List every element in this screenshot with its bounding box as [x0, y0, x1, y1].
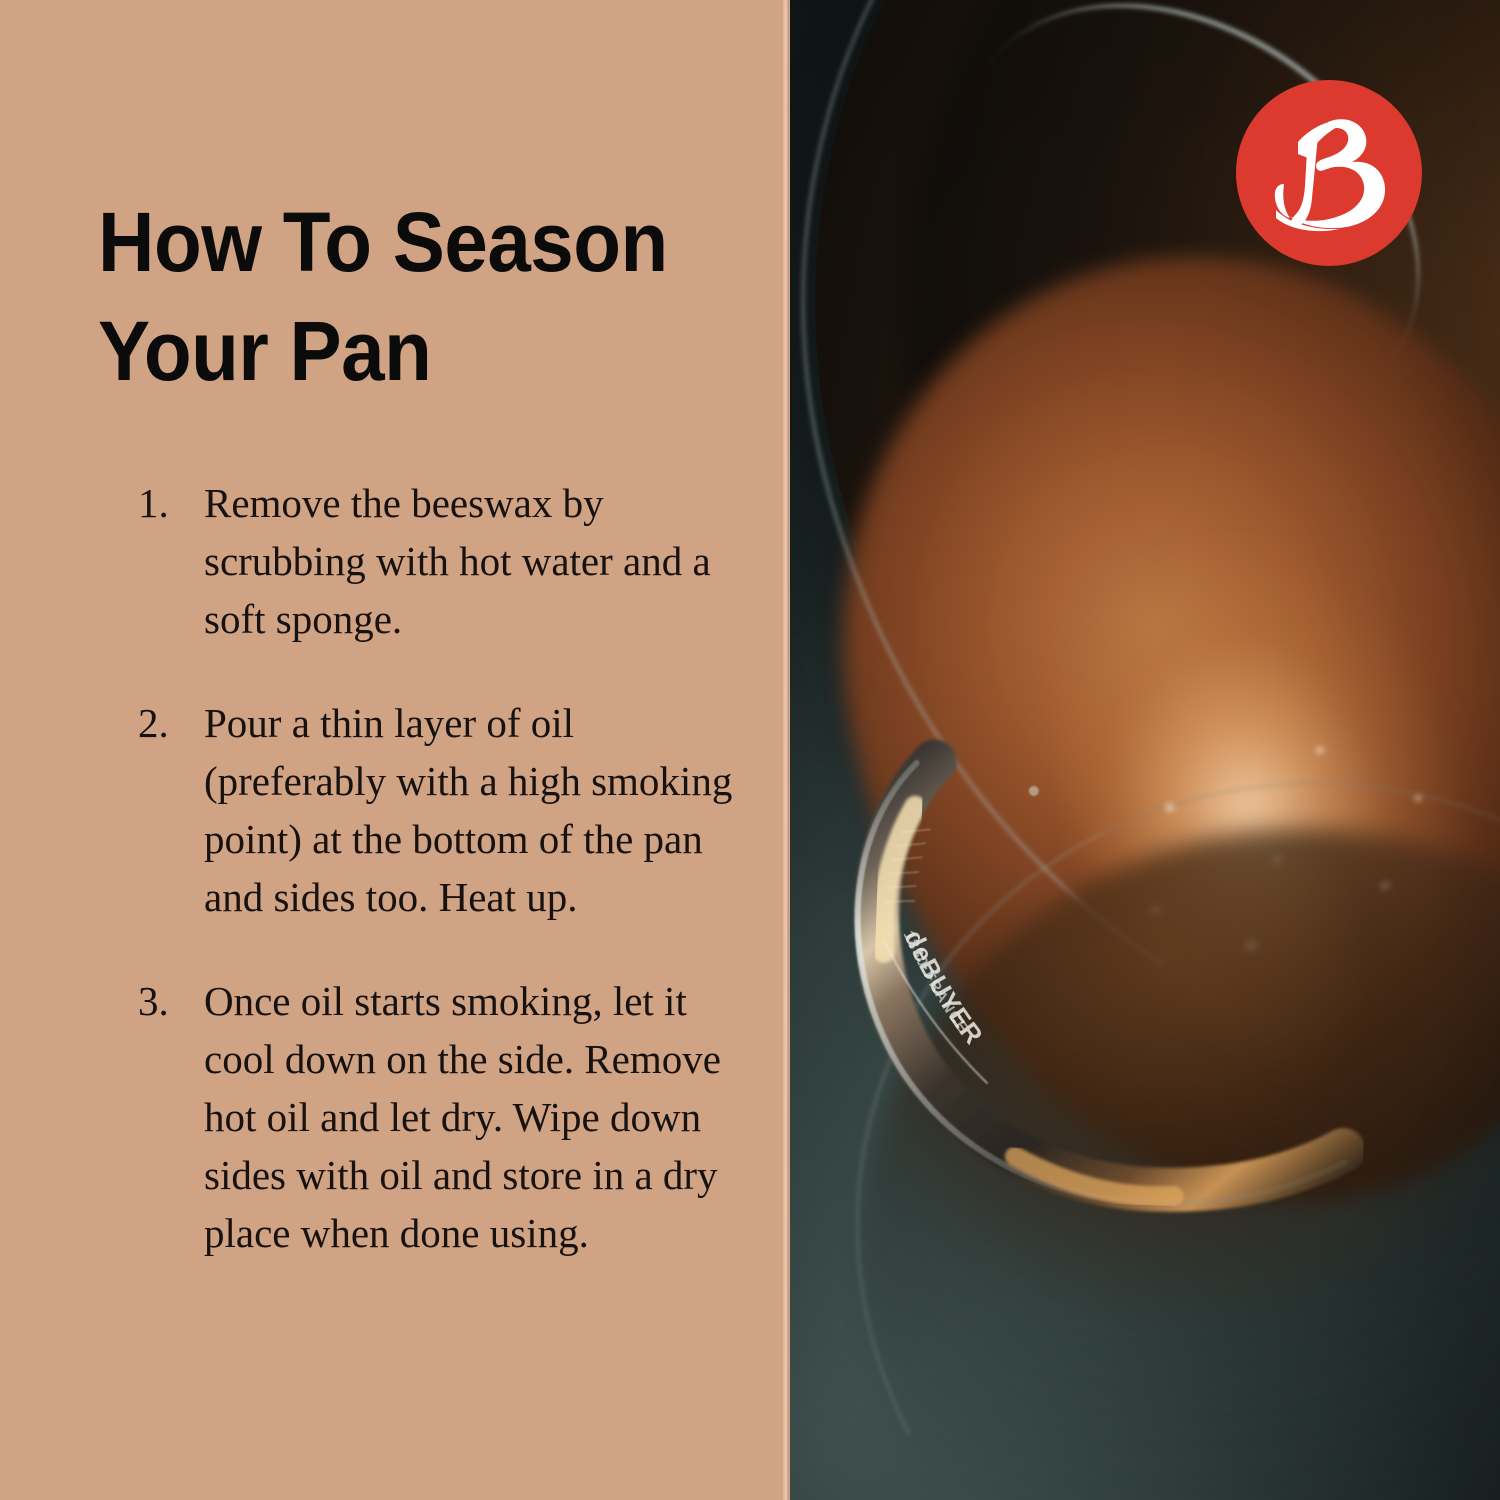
- instructions-panel: How To Season Your Pan 1. Remove the bee…: [0, 0, 790, 1500]
- step-text: Once oil starts smoking, let it cool dow…: [204, 972, 756, 1262]
- list-item: 2. Pour a thin layer of oil (preferably …: [138, 694, 756, 926]
- step-text: Pour a thin layer of oil (preferably wit…: [204, 694, 756, 926]
- steps-list: 1. Remove the beeswax by scrubbing with …: [98, 474, 756, 1262]
- step-text: Remove the beeswax by scrubbing with hot…: [204, 474, 756, 648]
- list-item: 3. Once oil starts smoking, let it cool …: [138, 972, 756, 1262]
- panel-divider: [782, 0, 789, 1500]
- list-item: 1. Remove the beeswax by scrubbing with …: [138, 474, 756, 648]
- debuyer-logo-badge: [1236, 80, 1422, 266]
- step-number: 1.: [138, 474, 204, 532]
- page-title: How To Season Your Pan: [98, 188, 693, 406]
- how-to-season-your-pan-graphic: How To Season Your Pan 1. Remove the bee…: [0, 0, 1500, 1500]
- step-number: 3.: [138, 972, 204, 1030]
- debuyer-script-b-logo: [1254, 98, 1404, 248]
- product-photo: deBUYER 1830·FRANCE: [790, 0, 1500, 1500]
- step-number: 2.: [138, 694, 204, 752]
- pan-handle: deBUYER 1830·FRANCE: [798, 725, 1377, 1304]
